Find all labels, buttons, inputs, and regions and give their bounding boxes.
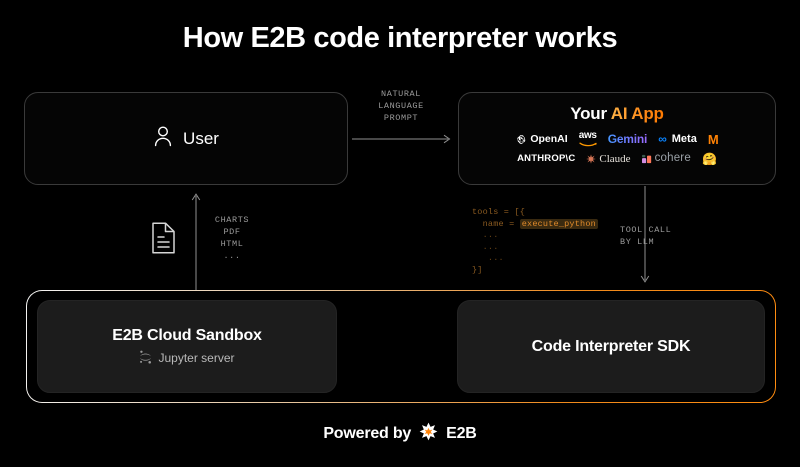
tool-definition-code-snippet: tools = [{ name = execute_python ... ...… bbox=[472, 207, 598, 276]
openai-logo-label: OpenAI bbox=[530, 134, 567, 145]
code-interpreter-sdk-box: Code Interpreter SDK bbox=[457, 300, 765, 393]
e2b-cloud-sandbox-title: E2B Cloud Sandbox bbox=[112, 327, 262, 345]
jupyter-server-label: Jupyter server bbox=[158, 351, 234, 365]
e2b-platform-container-inner: E2B Cloud Sandbox Jupyter server bbox=[27, 291, 775, 402]
aws-logo-label: aws bbox=[579, 131, 597, 141]
powered-by-label: Powered by bbox=[323, 425, 411, 443]
diagram-canvas: How E2B code interpreter works User Your… bbox=[0, 0, 800, 467]
e2b-logo-icon bbox=[419, 422, 438, 446]
footer: Powered by E2B bbox=[0, 422, 800, 446]
arrow-user-to-ai-app bbox=[352, 131, 454, 149]
page-title: How E2B code interpreter works bbox=[0, 22, 800, 55]
jupyter-icon bbox=[139, 350, 152, 367]
person-icon bbox=[153, 125, 173, 152]
user-box: User bbox=[24, 92, 348, 185]
your-ai-app-box: Your AI App OpenAI aws bbox=[458, 92, 776, 185]
mistral-logo: M bbox=[708, 133, 718, 146]
code-line-2-value: execute_python bbox=[520, 219, 598, 229]
gemini-logo: Gemini bbox=[608, 133, 647, 145]
code-dots-2: ... bbox=[472, 242, 499, 252]
e2b-brand-label: E2B bbox=[446, 425, 477, 443]
meta-logo-label: Meta bbox=[672, 134, 697, 145]
openai-logo: OpenAI bbox=[516, 134, 567, 145]
meta-logo: ∞ Meta bbox=[658, 133, 697, 145]
logo-row-1: OpenAI aws Gemini ∞ Met bbox=[516, 131, 717, 147]
anthropic-logo: ANTHROP\C bbox=[517, 154, 575, 164]
huggingface-logo: 🤗 bbox=[702, 153, 717, 165]
logo-row-2: ANTHROP\C Claude cohere bbox=[517, 153, 717, 165]
user-label: User bbox=[183, 129, 219, 149]
claude-starburst-icon bbox=[586, 154, 596, 164]
cohere-logo-label: cohere bbox=[655, 153, 691, 165]
code-line-end: }] bbox=[472, 265, 483, 275]
code-dots-1: ... bbox=[472, 230, 499, 240]
cohere-logo: cohere bbox=[642, 153, 691, 165]
your-ai-app-content: Your AI App OpenAI aws bbox=[459, 93, 775, 184]
gemini-logo-label: Gemini bbox=[608, 133, 647, 145]
meta-infinity-icon: ∞ bbox=[658, 133, 667, 145]
code-interpreter-sdk-title: Code Interpreter SDK bbox=[532, 338, 691, 356]
claude-logo-label: Claude bbox=[599, 154, 630, 165]
document-output-icon bbox=[150, 222, 176, 259]
e2b-cloud-sandbox-box: E2B Cloud Sandbox Jupyter server bbox=[37, 300, 337, 393]
code-dots-3: ... bbox=[472, 253, 504, 263]
your-ai-app-title-white: Your bbox=[570, 104, 611, 123]
huggingface-logo-label: 🤗 bbox=[702, 153, 717, 165]
jupyter-server-row: Jupyter server bbox=[139, 350, 234, 367]
user-box-content: User bbox=[25, 93, 347, 184]
aws-smile-icon bbox=[579, 142, 597, 147]
claude-logo: Claude bbox=[586, 154, 630, 165]
aws-logo: aws bbox=[579, 131, 597, 147]
anthropic-logo-label: ANTHROP\C bbox=[517, 154, 575, 164]
arrow-ai-app-to-sdk bbox=[640, 186, 650, 291]
tool-call-by-llm-label: TOOL CALL BY LLM bbox=[620, 224, 720, 248]
natural-language-prompt-label: NATURAL LANGUAGE PROMPT bbox=[358, 88, 444, 124]
e2b-platform-container: E2B Cloud Sandbox Jupyter server bbox=[26, 290, 776, 403]
mistral-logo-label: M bbox=[708, 133, 718, 146]
code-line-1: tools = [{ bbox=[472, 207, 525, 217]
your-ai-app-title: Your AI App bbox=[570, 104, 664, 124]
outputs-label: CHARTS PDF HTML ... bbox=[196, 214, 268, 262]
cohere-mark-icon bbox=[642, 154, 652, 164]
code-line-2-prefix: name = bbox=[472, 219, 520, 229]
your-ai-app-title-accent: AI App bbox=[611, 104, 664, 123]
